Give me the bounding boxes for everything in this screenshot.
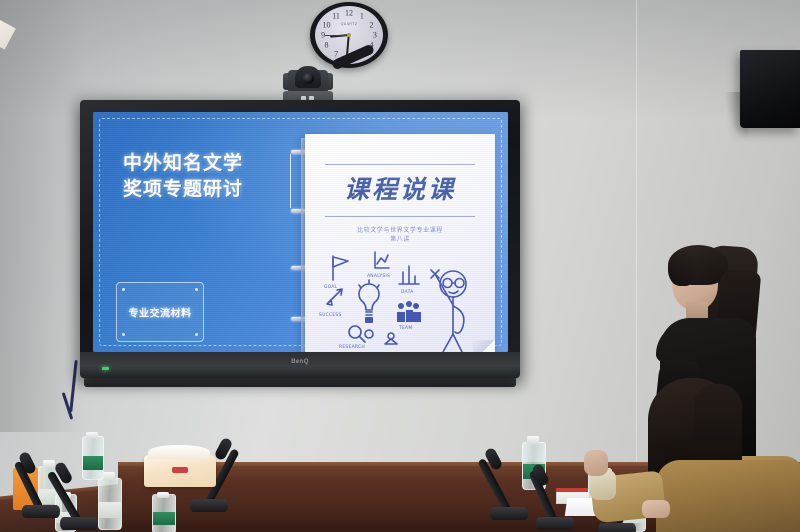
display-bezel-bottom: BenQ bbox=[80, 352, 520, 378]
clock-numeral: 1 bbox=[360, 11, 364, 20]
table-microphone bbox=[490, 448, 530, 520]
clock-numeral: 12 bbox=[345, 8, 353, 17]
clock-numeral: 8 bbox=[325, 41, 329, 50]
camera-head bbox=[295, 66, 321, 88]
attendee-hand bbox=[642, 500, 670, 518]
clock-numeral: 11 bbox=[332, 11, 340, 20]
clock-numeral: 2 bbox=[369, 20, 373, 29]
interactive-display[interactable]: 中外知名文学 奖项专题研讨 专业交流材料 课程说课 bbox=[80, 100, 520, 378]
water-bottle bbox=[152, 492, 174, 532]
camera-lens-icon bbox=[303, 73, 314, 84]
screen-glare bbox=[93, 112, 508, 352]
presenter-fringe bbox=[668, 250, 694, 286]
water-bottle bbox=[98, 472, 120, 530]
display-mount bbox=[84, 378, 516, 387]
wall-panel-joint bbox=[636, 0, 637, 470]
tissue-top-fold bbox=[148, 445, 210, 459]
display-screen[interactable]: 中外知名文学 奖项专题研讨 专业交流材料 课程说课 bbox=[93, 112, 508, 352]
attendee-seated bbox=[648, 378, 800, 532]
display-brand-logo: BenQ bbox=[291, 359, 309, 365]
room-photo: 12 1 2 3 4 5 6 7 8 9 10 11 QUARTZ bbox=[0, 0, 800, 532]
attendee-coat bbox=[656, 460, 800, 532]
table-microphone bbox=[60, 460, 100, 530]
power-led-indicator bbox=[102, 367, 109, 370]
small-box-stripe bbox=[556, 488, 588, 492]
clock-numeral: 3 bbox=[373, 31, 377, 40]
clock-numeral: 10 bbox=[323, 20, 331, 29]
presentation-slide: 中外知名文学 奖项专题研讨 专业交流材料 课程说课 bbox=[93, 112, 508, 352]
attendee-hand bbox=[584, 450, 608, 476]
tissue-pack bbox=[144, 455, 216, 487]
clock-second-hand bbox=[325, 35, 349, 36]
wall-speaker bbox=[740, 50, 800, 128]
tissue-brand-mark bbox=[172, 467, 188, 473]
clock-brand: QUARTZ bbox=[341, 22, 358, 26]
clock-center-pin bbox=[347, 33, 351, 37]
